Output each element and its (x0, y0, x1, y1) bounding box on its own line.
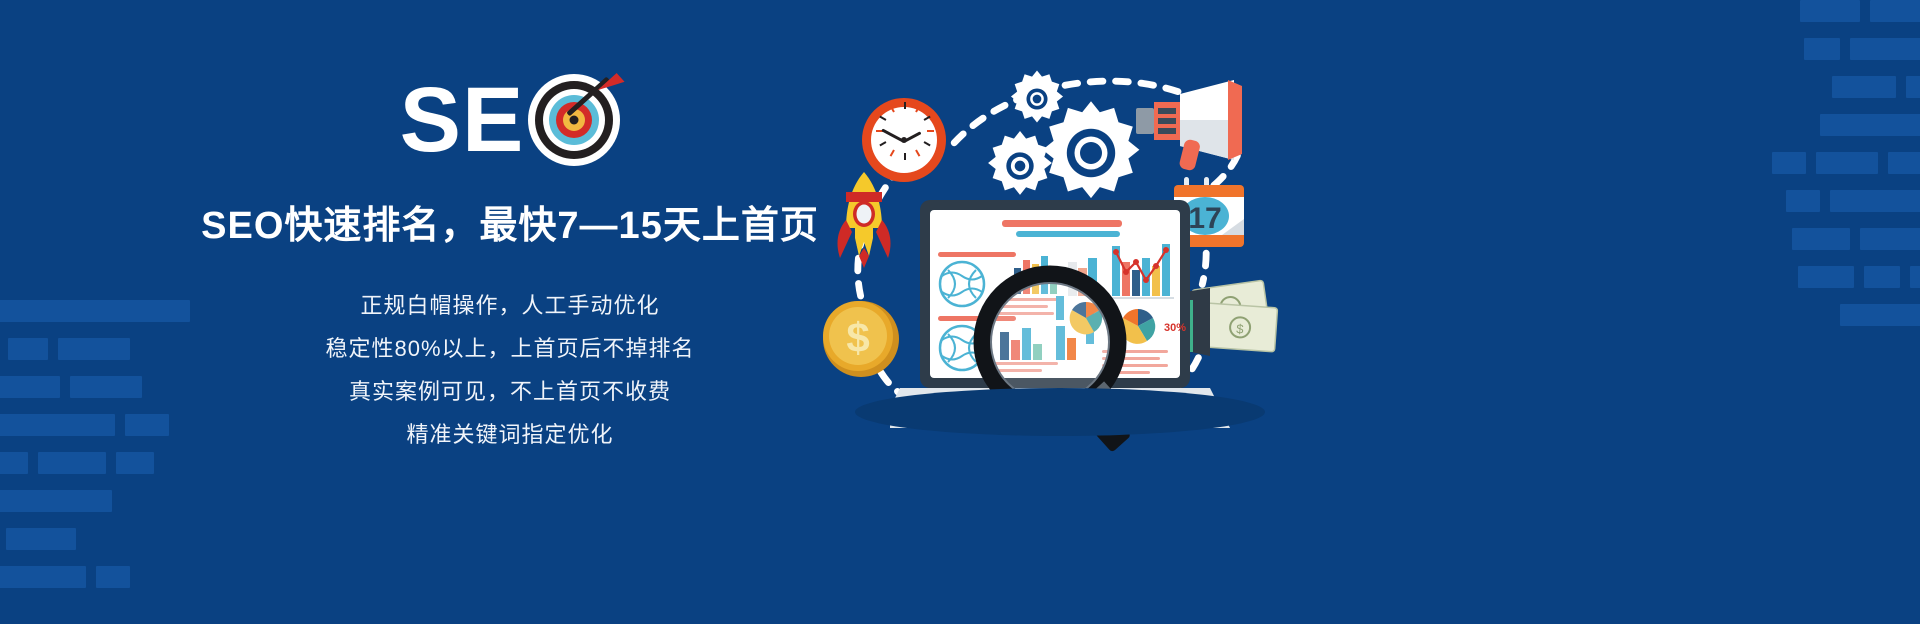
megaphone-icon (1130, 76, 1250, 176)
laptop-shadow (855, 388, 1265, 436)
feature-line-4: 精准关键词指定优化 (190, 414, 830, 457)
feature-line-3: 真实案例可见，不上首页不收费 (190, 371, 830, 414)
page-title: SEO快速排名，最快7—15天上首页 (190, 194, 830, 249)
gear-icon-medium (982, 128, 1058, 204)
feature-line-1: 正规白帽操作，人工手动优化 (190, 285, 830, 328)
seo-logo: SE (190, 72, 830, 168)
seo-logo-letters: SE (400, 74, 525, 166)
text-column: SE SEO快速排名，最快7—15天上首页 正规白帽操作，人工手动优化 稳定性8… (190, 72, 830, 457)
coin-dollar-icon: $ (822, 300, 900, 378)
seo-illustration: $ 17 (800, 50, 1460, 580)
seo-marketing-banner: SE SEO快速排名，最快7—15天上首页 正规白帽操作，人工手动优化 稳定性8… (0, 0, 1920, 624)
pie-percentage-label: 30% (1164, 322, 1186, 334)
background-code-decoration-right (1650, 0, 1920, 624)
rocket-icon (836, 170, 892, 280)
coin-symbol-text: $ (846, 314, 869, 361)
target-bullseye-icon (528, 74, 620, 166)
feature-line-2: 稳定性80%以上，上首页后不掉排名 (190, 328, 830, 371)
background-code-decoration-left (0, 0, 220, 624)
